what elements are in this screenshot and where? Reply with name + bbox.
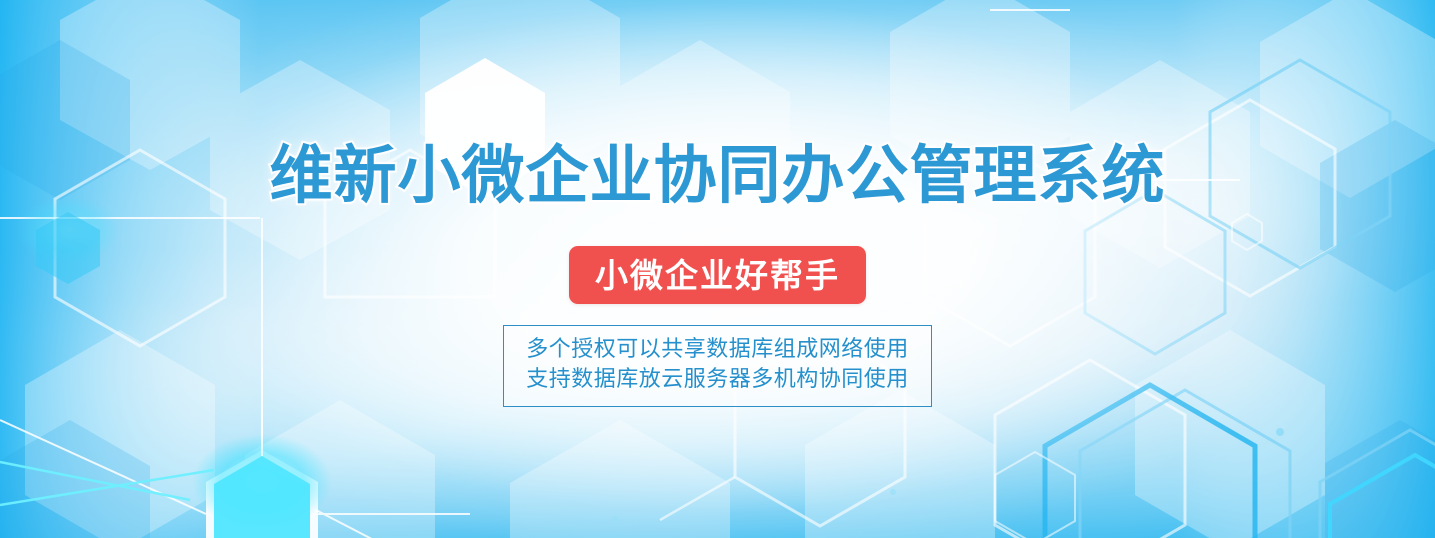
page-title: 维新小微企业协同办公管理系统 [0,138,1435,214]
feature-note-line-1: 多个授权可以共享数据库组成网络使用 [526,335,909,365]
feature-note-box: 多个授权可以共享数据库组成网络使用 支持数据库放云服务器多机构协同使用 [503,325,932,407]
tagline-badge: 小微企业好帮手 [569,246,866,304]
banner-content: 维新小微企业协同办公管理系统 小微企业好帮手 多个授权可以共享数据库组成网络使用… [0,0,1435,538]
badge-row: 小微企业好帮手 [0,246,1435,304]
hero-banner: 维新小微企业协同办公管理系统 小微企业好帮手 多个授权可以共享数据库组成网络使用… [0,0,1435,538]
note-row: 多个授权可以共享数据库组成网络使用 支持数据库放云服务器多机构协同使用 [0,325,1435,407]
feature-note-line-2: 支持数据库放云服务器多机构协同使用 [526,365,909,395]
